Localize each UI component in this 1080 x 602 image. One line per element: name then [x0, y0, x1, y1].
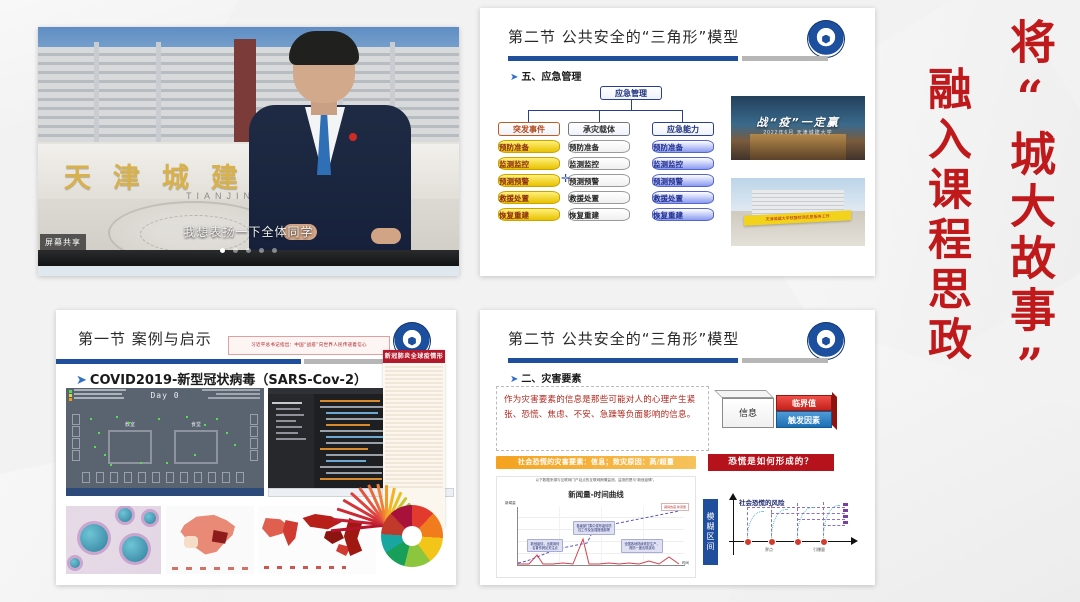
speaker	[253, 37, 405, 254]
diagram-item: 恢复重建	[498, 208, 560, 221]
speaker-hair	[289, 31, 359, 65]
news-volume-chart: 以下数据来源与互联网门户站点的互联网舆情监测，监测的是与“新冠疫情”。 新闻量-…	[496, 476, 696, 578]
diagram-item: 监测监控	[568, 157, 630, 170]
diagram-col-header: 应急能力	[652, 122, 714, 136]
video-frame: 天津城建 TIANJIN 我想表扬一下全体同学 屏幕共享	[38, 27, 459, 276]
headline-column-left: 融入课程思政	[918, 66, 972, 366]
diagram-col-header: 突发事件	[498, 122, 560, 136]
university-logo-icon	[807, 322, 845, 360]
diagram-item: 救援处置	[568, 191, 630, 204]
diagram-item: 预防准备	[498, 140, 560, 153]
definition-textbox: 作为灾害要素的信息是那些可能对人的心理产生紧张、恐慌、焦虑、不安、急躁等负面影响…	[496, 386, 709, 451]
red-question-bar: 恐慌是如何形成的？	[708, 454, 834, 471]
diagram-item: 预防准备	[652, 140, 714, 153]
sim-room-classroom: 教室	[108, 430, 152, 464]
sim-room-canteen: 食堂	[174, 430, 218, 464]
diagram-item: 恢复重建	[568, 208, 630, 221]
slide-a-photo-bottom: 天津城建大学核酸检测志愿服务工作	[731, 178, 865, 246]
title-rule	[56, 359, 396, 364]
slide-c-title: 第二节 公共安全的“三角形”模型	[508, 328, 739, 349]
video-pager-dots[interactable]	[38, 240, 459, 258]
poster-title: 新冠肺炎全球疫情形势	[383, 350, 445, 363]
connector	[528, 110, 683, 111]
connector	[528, 110, 529, 122]
panic-ylabel: 模糊区间	[703, 499, 718, 565]
slide-a-title: 第二节 公共安全的“三角形”模型	[508, 26, 739, 47]
desk-front	[38, 266, 459, 276]
sim-status-bar	[66, 488, 264, 496]
diagram-root: 应急管理	[600, 86, 662, 100]
diagram-item: 救援处置	[652, 191, 714, 204]
backdrop-en-text: TIANJIN	[186, 191, 255, 201]
vertical-headline: 将“城大故事” 融入课程思政	[885, 0, 1080, 602]
slide-a-photo-top: 战“疫”一定赢 2022年6月 天津城建大学	[731, 96, 865, 160]
connector	[631, 100, 632, 110]
video-subtitle: 我想表扬一下全体同学	[38, 223, 459, 240]
diagram-item: 预测预警	[498, 174, 560, 187]
block-info-top	[714, 390, 774, 398]
screenshot-canvas: 天津城建 TIANJIN 我想表扬一下全体同学 屏幕共享	[0, 0, 1080, 602]
lecture-video-player[interactable]: 天津城建 TIANJIN 我想表扬一下全体同学 屏幕共享	[38, 27, 459, 276]
diagram-item: 救援处置	[498, 191, 560, 204]
plus-operator-icon: ✛	[561, 174, 573, 186]
bullet-arrow-icon: ➤	[510, 374, 518, 385]
y-axis-arrow-icon	[729, 493, 737, 500]
panic-xtick: 界点	[765, 547, 773, 553]
university-logo-icon	[807, 20, 845, 58]
headline-column-right: 将“城大故事”	[1002, 18, 1058, 398]
diagram-item: 监测监控	[498, 157, 560, 170]
slide-disaster-elements[interactable]: 第二节 公共安全的“三角形”模型 ➤二、灾害要素 作为灾害要素的信息是那些可能对…	[480, 310, 875, 585]
block-side	[832, 392, 837, 430]
backdrop-cn-text: 天津城建	[64, 156, 260, 195]
radial-donut-chart	[381, 505, 443, 567]
diagram-item: 预防准备	[568, 140, 630, 153]
title-rule	[508, 56, 828, 61]
epidemic-simulation: Day 0 教室 食堂	[66, 388, 264, 488]
x-axis-arrow-icon	[851, 537, 858, 545]
building-column	[94, 42, 99, 147]
title-rule	[508, 358, 828, 363]
diagram-item: 恢复重建	[652, 208, 714, 221]
diagram-col-header: 承灾载体	[568, 122, 630, 136]
chart-callout: 各级部门集中发布疫情防控工作及加强措施部署	[573, 521, 615, 535]
slide-b-quote: 习近平总书记指出：中国“战疫”向世界人民传递着信心	[228, 336, 390, 355]
panic-xtick: 引爆量	[813, 547, 825, 553]
panic-risk-chart: 模糊区间 社会恐慌的风险 界点 引爆量	[702, 476, 864, 578]
block-threshold: 临界值	[776, 395, 832, 411]
thumb-virus-image	[66, 506, 161, 574]
bullet-arrow-icon: ➤	[510, 72, 518, 83]
slide-c-section: ➤二、灾害要素	[510, 370, 581, 385]
panic-chart-title: 社会恐慌的风险	[739, 497, 785, 507]
slide-b-section: ➤COVID2019-新型冠状病毒（SARS-Cov-2）	[76, 369, 367, 388]
thumb-china-map	[166, 506, 254, 574]
diagram-item: 监测监控	[652, 157, 714, 170]
speaker-lapel-pin	[349, 133, 357, 141]
sim-day-label: Day 0	[66, 391, 264, 400]
bullet-arrow-icon: ➤	[76, 373, 87, 388]
photo-building	[750, 134, 847, 160]
chart-callout: 新冠疫情，出现用何名普作舆论关注点	[527, 539, 563, 552]
building-column	[156, 42, 161, 147]
diagram-item: 预测预警	[652, 174, 714, 187]
photo-caption: 2022年6月 天津城建大学	[731, 129, 865, 136]
orange-summary-bar: 社会恐慌的灾害要素：信息；致灾原因：高/超量	[496, 456, 696, 469]
block-trigger: 触发因素	[776, 411, 832, 428]
connector	[599, 110, 600, 122]
slide-a-section: ➤五、应急管理	[510, 68, 581, 83]
photo-title: 战“疫”一定赢	[731, 114, 865, 130]
slide-b-title: 第一节 案例与启示	[78, 328, 212, 349]
diagram-item: 预测预警	[568, 174, 630, 187]
block-info: 信息	[722, 398, 774, 428]
chart-callout: 全国各地陆续恢复生产，舆情一度出现波动	[621, 539, 663, 553]
connector	[682, 110, 683, 122]
